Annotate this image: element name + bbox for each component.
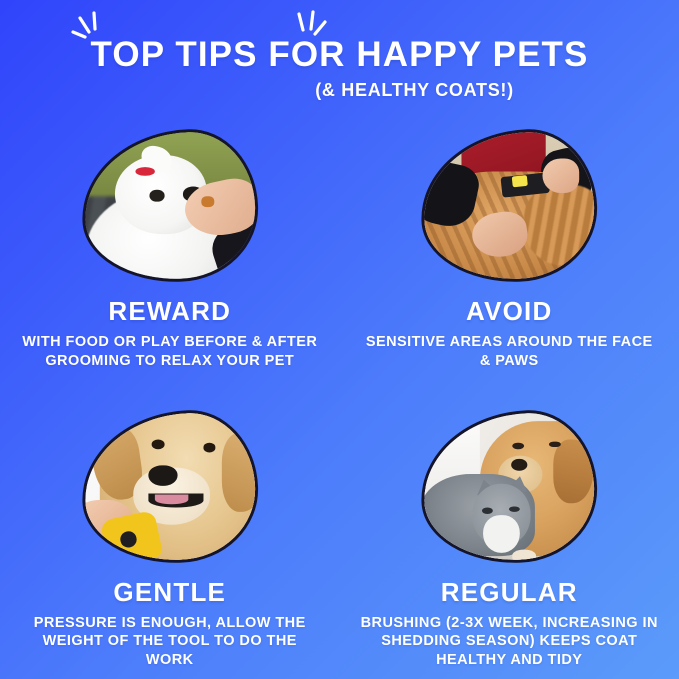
tip-heading-gentle: GENTLE bbox=[113, 579, 226, 605]
tip-card-gentle: GENTLE PRESSURE IS ENOUGH, ALLOW THE WEI… bbox=[0, 399, 340, 679]
tip-heading-regular: REGULAR bbox=[441, 579, 578, 605]
tip-card-avoid: AVOID SENSITIVE AREAS AROUND THE FACE & … bbox=[340, 118, 679, 399]
page-subtitle-text: (& HEALTHY COATS!) bbox=[165, 80, 514, 101]
tip-photo-gentle bbox=[79, 407, 260, 565]
tip-card-regular: REGULAR BRUSHING (2-3X WEEK, INCREASING … bbox=[340, 399, 679, 679]
tips-grid: REWARD WITH FOOD OR PLAY BEFORE & AFTER … bbox=[0, 118, 679, 679]
tip-photo-reward bbox=[79, 127, 260, 285]
tip-body-gentle: PRESSURE IS ENOUGH, ALLOW THE WEIGHT OF … bbox=[20, 614, 320, 670]
tip-heading-reward: REWARD bbox=[108, 298, 231, 324]
tip-body-reward: WITH FOOD OR PLAY BEFORE & AFTER GROOMIN… bbox=[20, 333, 320, 370]
page-title-text: TOP TIPS FOR HAPPY PETS bbox=[91, 35, 589, 74]
title-row: TOP TIPS FOR HAPPY PETS bbox=[0, 32, 679, 78]
page-subtitle: (& HEALTHY COATS!) bbox=[0, 80, 679, 101]
tip-body-avoid: SENSITIVE AREAS AROUND THE FACE & PAWS bbox=[359, 333, 659, 370]
tip-heading-avoid: AVOID bbox=[466, 298, 552, 324]
tip-card-reward: REWARD WITH FOOD OR PLAY BEFORE & AFTER … bbox=[0, 118, 340, 399]
tip-photo-avoid bbox=[419, 127, 600, 285]
page-title: TOP TIPS FOR HAPPY PETS bbox=[91, 32, 589, 78]
tip-body-regular: BRUSHING (2-3X WEEK, INCREASING IN SHEDD… bbox=[359, 614, 659, 670]
infographic-header: TOP TIPS FOR HAPPY PETS (& HEALTHY COATS… bbox=[0, 0, 679, 118]
tip-photo-regular bbox=[419, 407, 600, 565]
